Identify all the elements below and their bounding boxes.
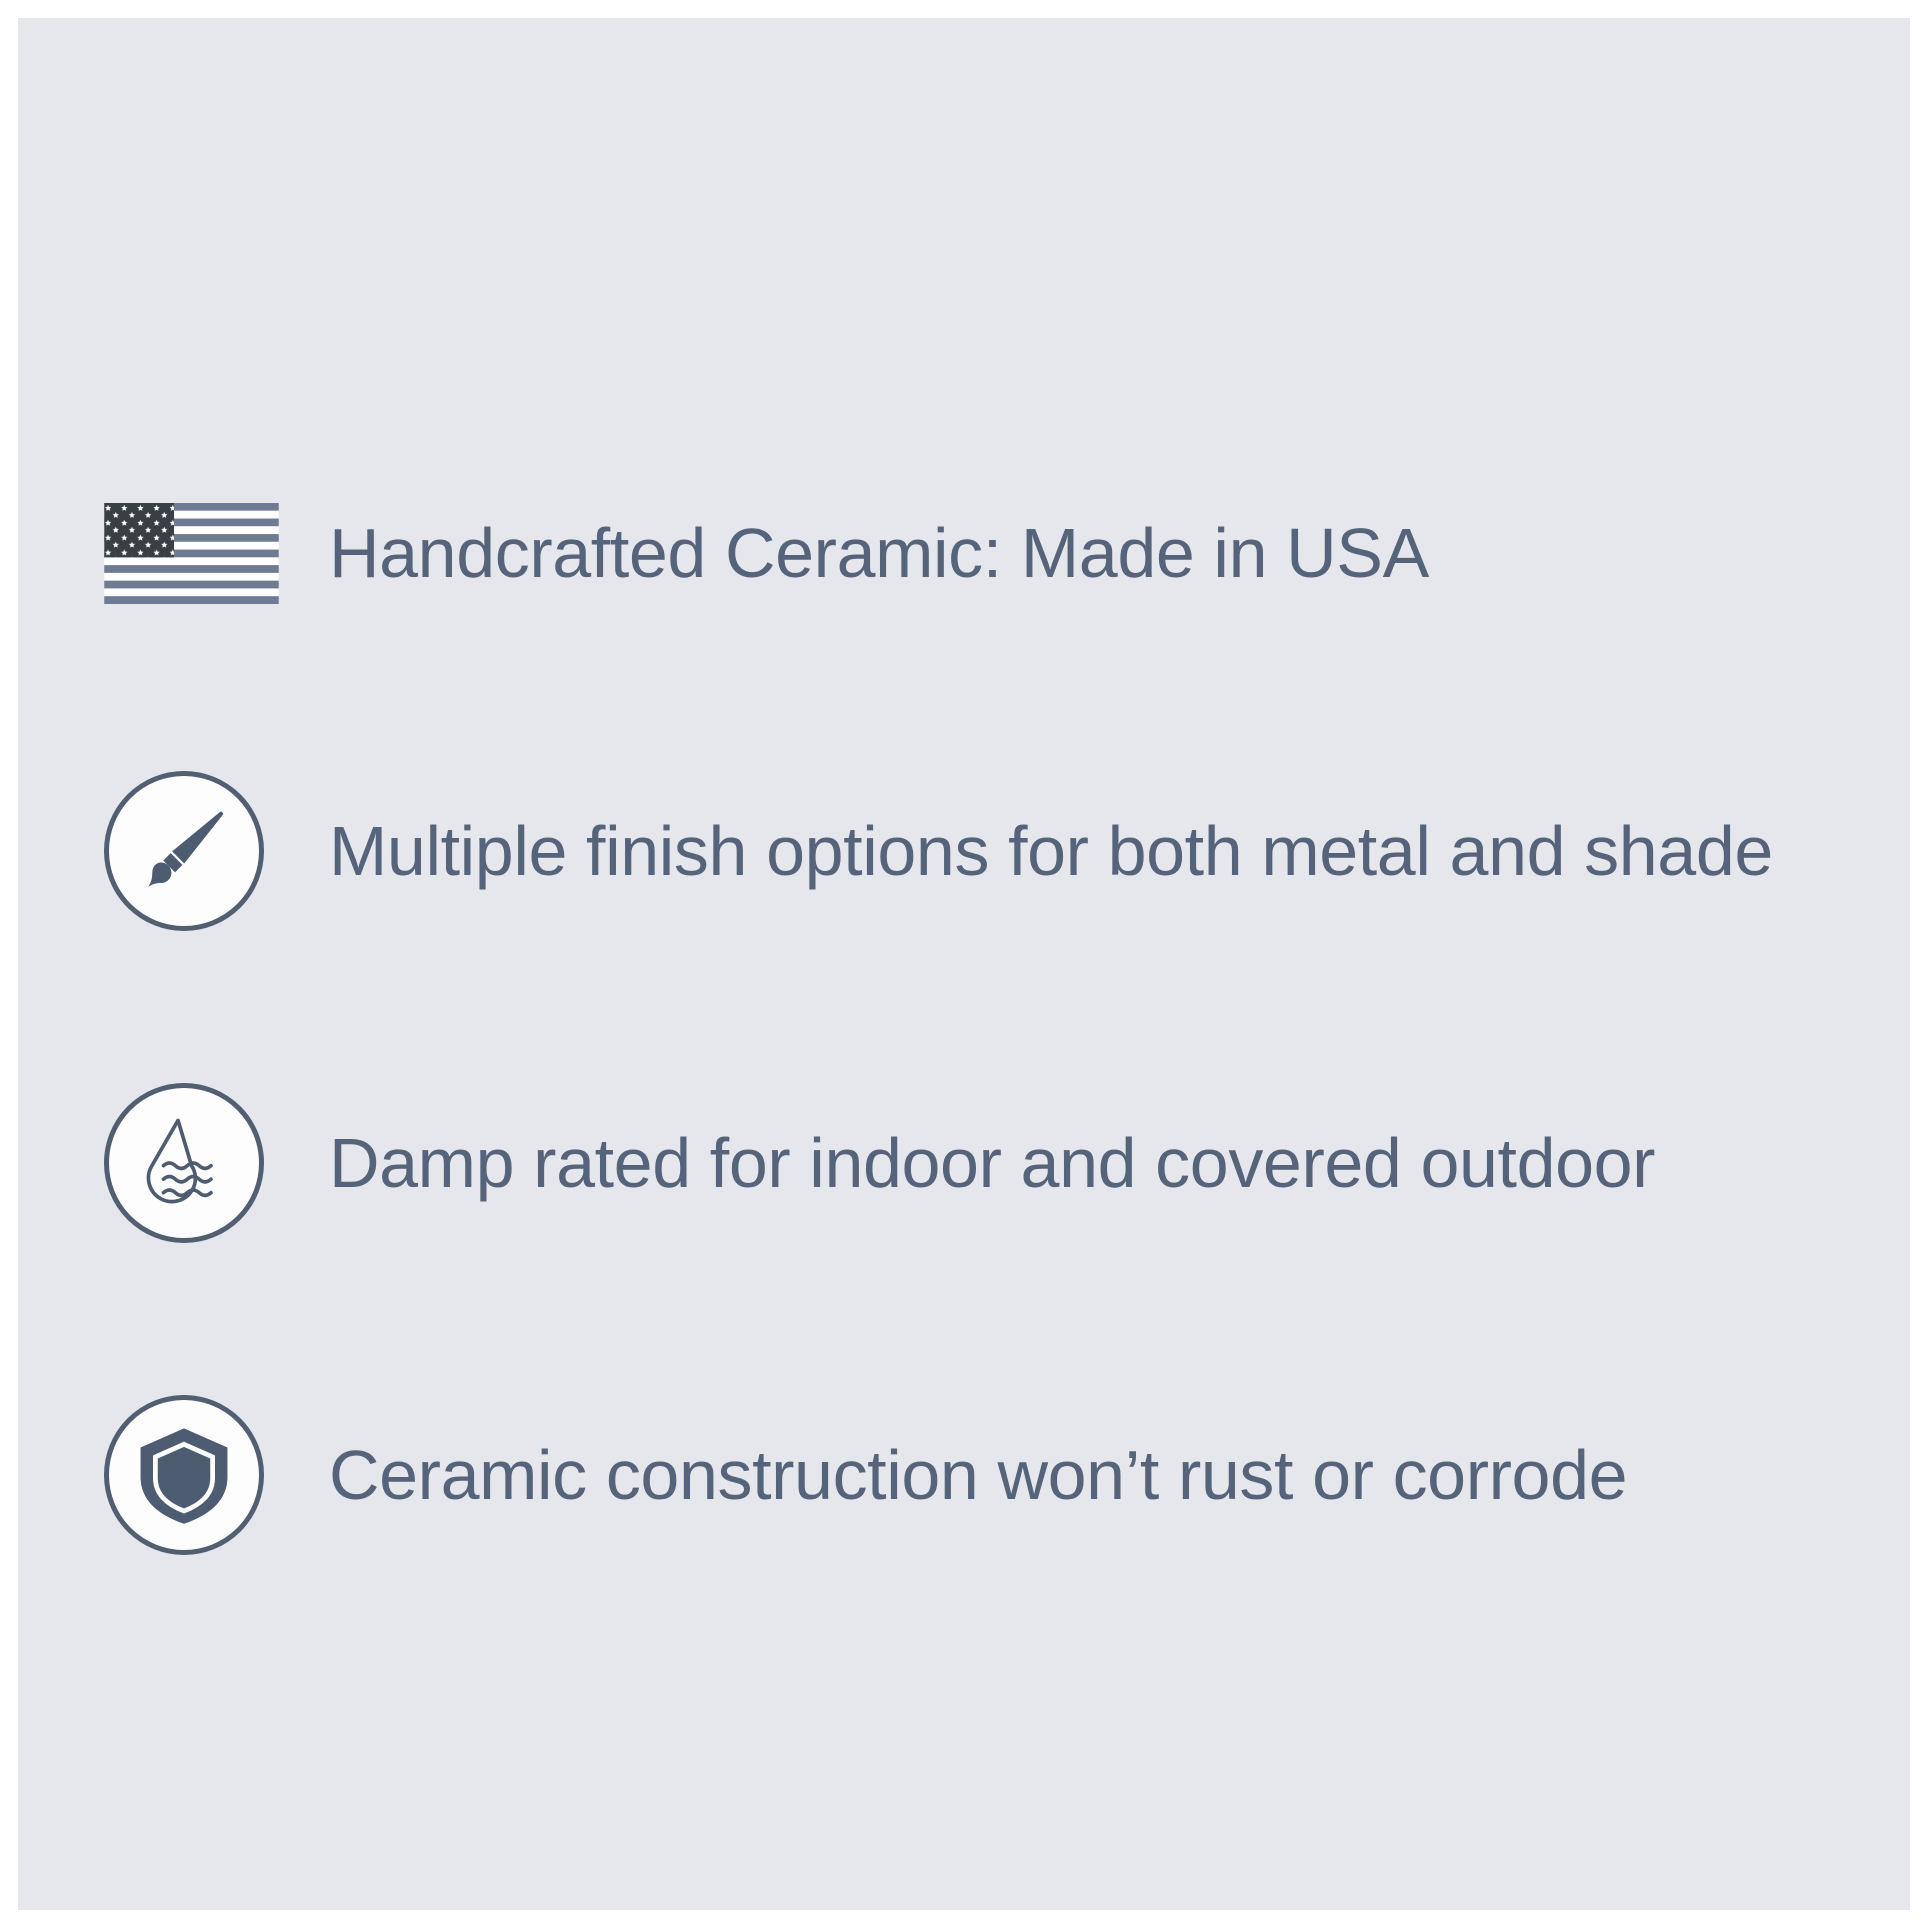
feature-label: Multiple finish options for both metal a… (279, 816, 1773, 886)
paintbrush-icon (132, 799, 236, 903)
feature-label: Damp rated for indoor and covered outdoo… (279, 1128, 1655, 1198)
usa-flag-icon (104, 468, 279, 638)
shield-icon-slot (104, 1390, 279, 1560)
feature-list: Handcrafted Ceramic: Made in USA (18, 18, 1910, 1910)
feature-item-no-rust: Ceramic construction won’t rust or corro… (104, 1390, 1864, 1560)
feature-panel: Handcrafted Ceramic: Made in USA (18, 18, 1910, 1910)
paintbrush-icon-slot (104, 766, 279, 936)
feature-label: Ceramic construction won’t rust or corro… (279, 1440, 1627, 1510)
feature-label: Handcrafted Ceramic: Made in USA (279, 518, 1429, 588)
feature-item-made-in-usa: Handcrafted Ceramic: Made in USA (104, 468, 1864, 638)
water-droplet-waves-icon (130, 1109, 238, 1217)
feature-item-finish-options: Multiple finish options for both metal a… (104, 766, 1864, 936)
water-droplet-icon-slot (104, 1078, 279, 1248)
icon-circle (104, 1395, 264, 1555)
icon-circle (104, 1083, 264, 1243)
feature-item-damp-rated: Damp rated for indoor and covered outdoo… (104, 1078, 1864, 1248)
shield-icon (131, 1422, 237, 1528)
icon-circle (104, 771, 264, 931)
